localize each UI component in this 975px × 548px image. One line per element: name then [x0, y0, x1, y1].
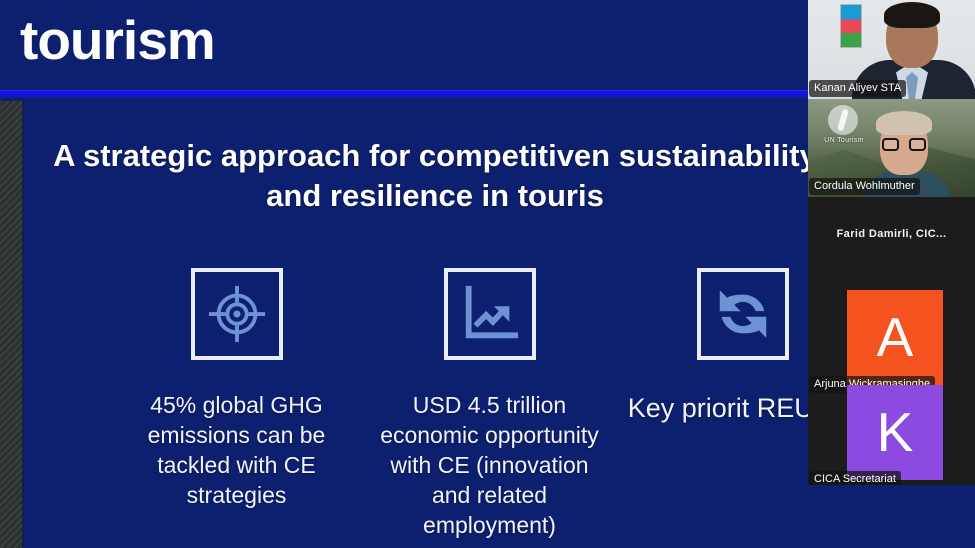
participant-tile-group[interactable]: Farid Damirli, CIC... A Arjuna Wickramas…	[808, 197, 975, 485]
participant-tile-arjuna-wickramasinghe[interactable]: A	[847, 290, 943, 385]
growth-chart-arrow-icon	[444, 268, 536, 360]
participant-tile-kanan-aliyev[interactable]: Kanan Aliyev STA	[808, 0, 975, 99]
participant-hair	[876, 111, 932, 135]
azerbaijan-flag	[841, 5, 861, 47]
slide-column-2: USD 4.5 trillion economic opportunity wi…	[363, 268, 616, 540]
participant-tile-cica-secretariat[interactable]: K	[847, 385, 943, 480]
slide-column-1-text: 45% global GHG emissions can be tackled …	[110, 391, 363, 511]
un-tourism-logo-icon	[828, 105, 858, 135]
zoom-participant-strip[interactable]: Kanan Aliyev STA UN Tourism Cordula Wohl…	[808, 0, 975, 485]
participant-tile-cordula-wohlmuther[interactable]: UN Tourism Cordula Wohlmuther	[808, 99, 975, 197]
slide-headline: A strategic approach for competitiven su…	[30, 136, 840, 217]
recycle-circular-arrows-icon	[697, 268, 789, 360]
participant-hair	[884, 2, 940, 28]
avatar-initial: K	[877, 405, 914, 460]
participant-glasses	[882, 138, 926, 151]
slide-left-edge-stripe	[0, 101, 23, 548]
avatar-initial: A	[877, 310, 914, 365]
target-crosshair-icon	[191, 268, 283, 360]
un-tourism-watermark-label: UN Tourism	[816, 137, 872, 144]
slide-column-2-text: USD 4.5 trillion economic opportunity wi…	[363, 391, 616, 540]
slide-column-1: 45% global GHG emissions can be tackled …	[110, 268, 363, 511]
slide-columns: 45% global GHG emissions can be tackled …	[110, 268, 870, 548]
participant-name-label: Cordula Wohlmuther	[809, 178, 920, 195]
participant-name-label: CICA Secretariat	[809, 471, 901, 485]
participant-name-farid-damirli: Farid Damirli, CIC...	[808, 228, 975, 240]
participant-name-label: Kanan Aliyev STA	[809, 80, 906, 97]
slide-header-word: tourism	[20, 13, 215, 68]
screen-share-stage: tourism A strategic approach for competi…	[0, 0, 975, 548]
